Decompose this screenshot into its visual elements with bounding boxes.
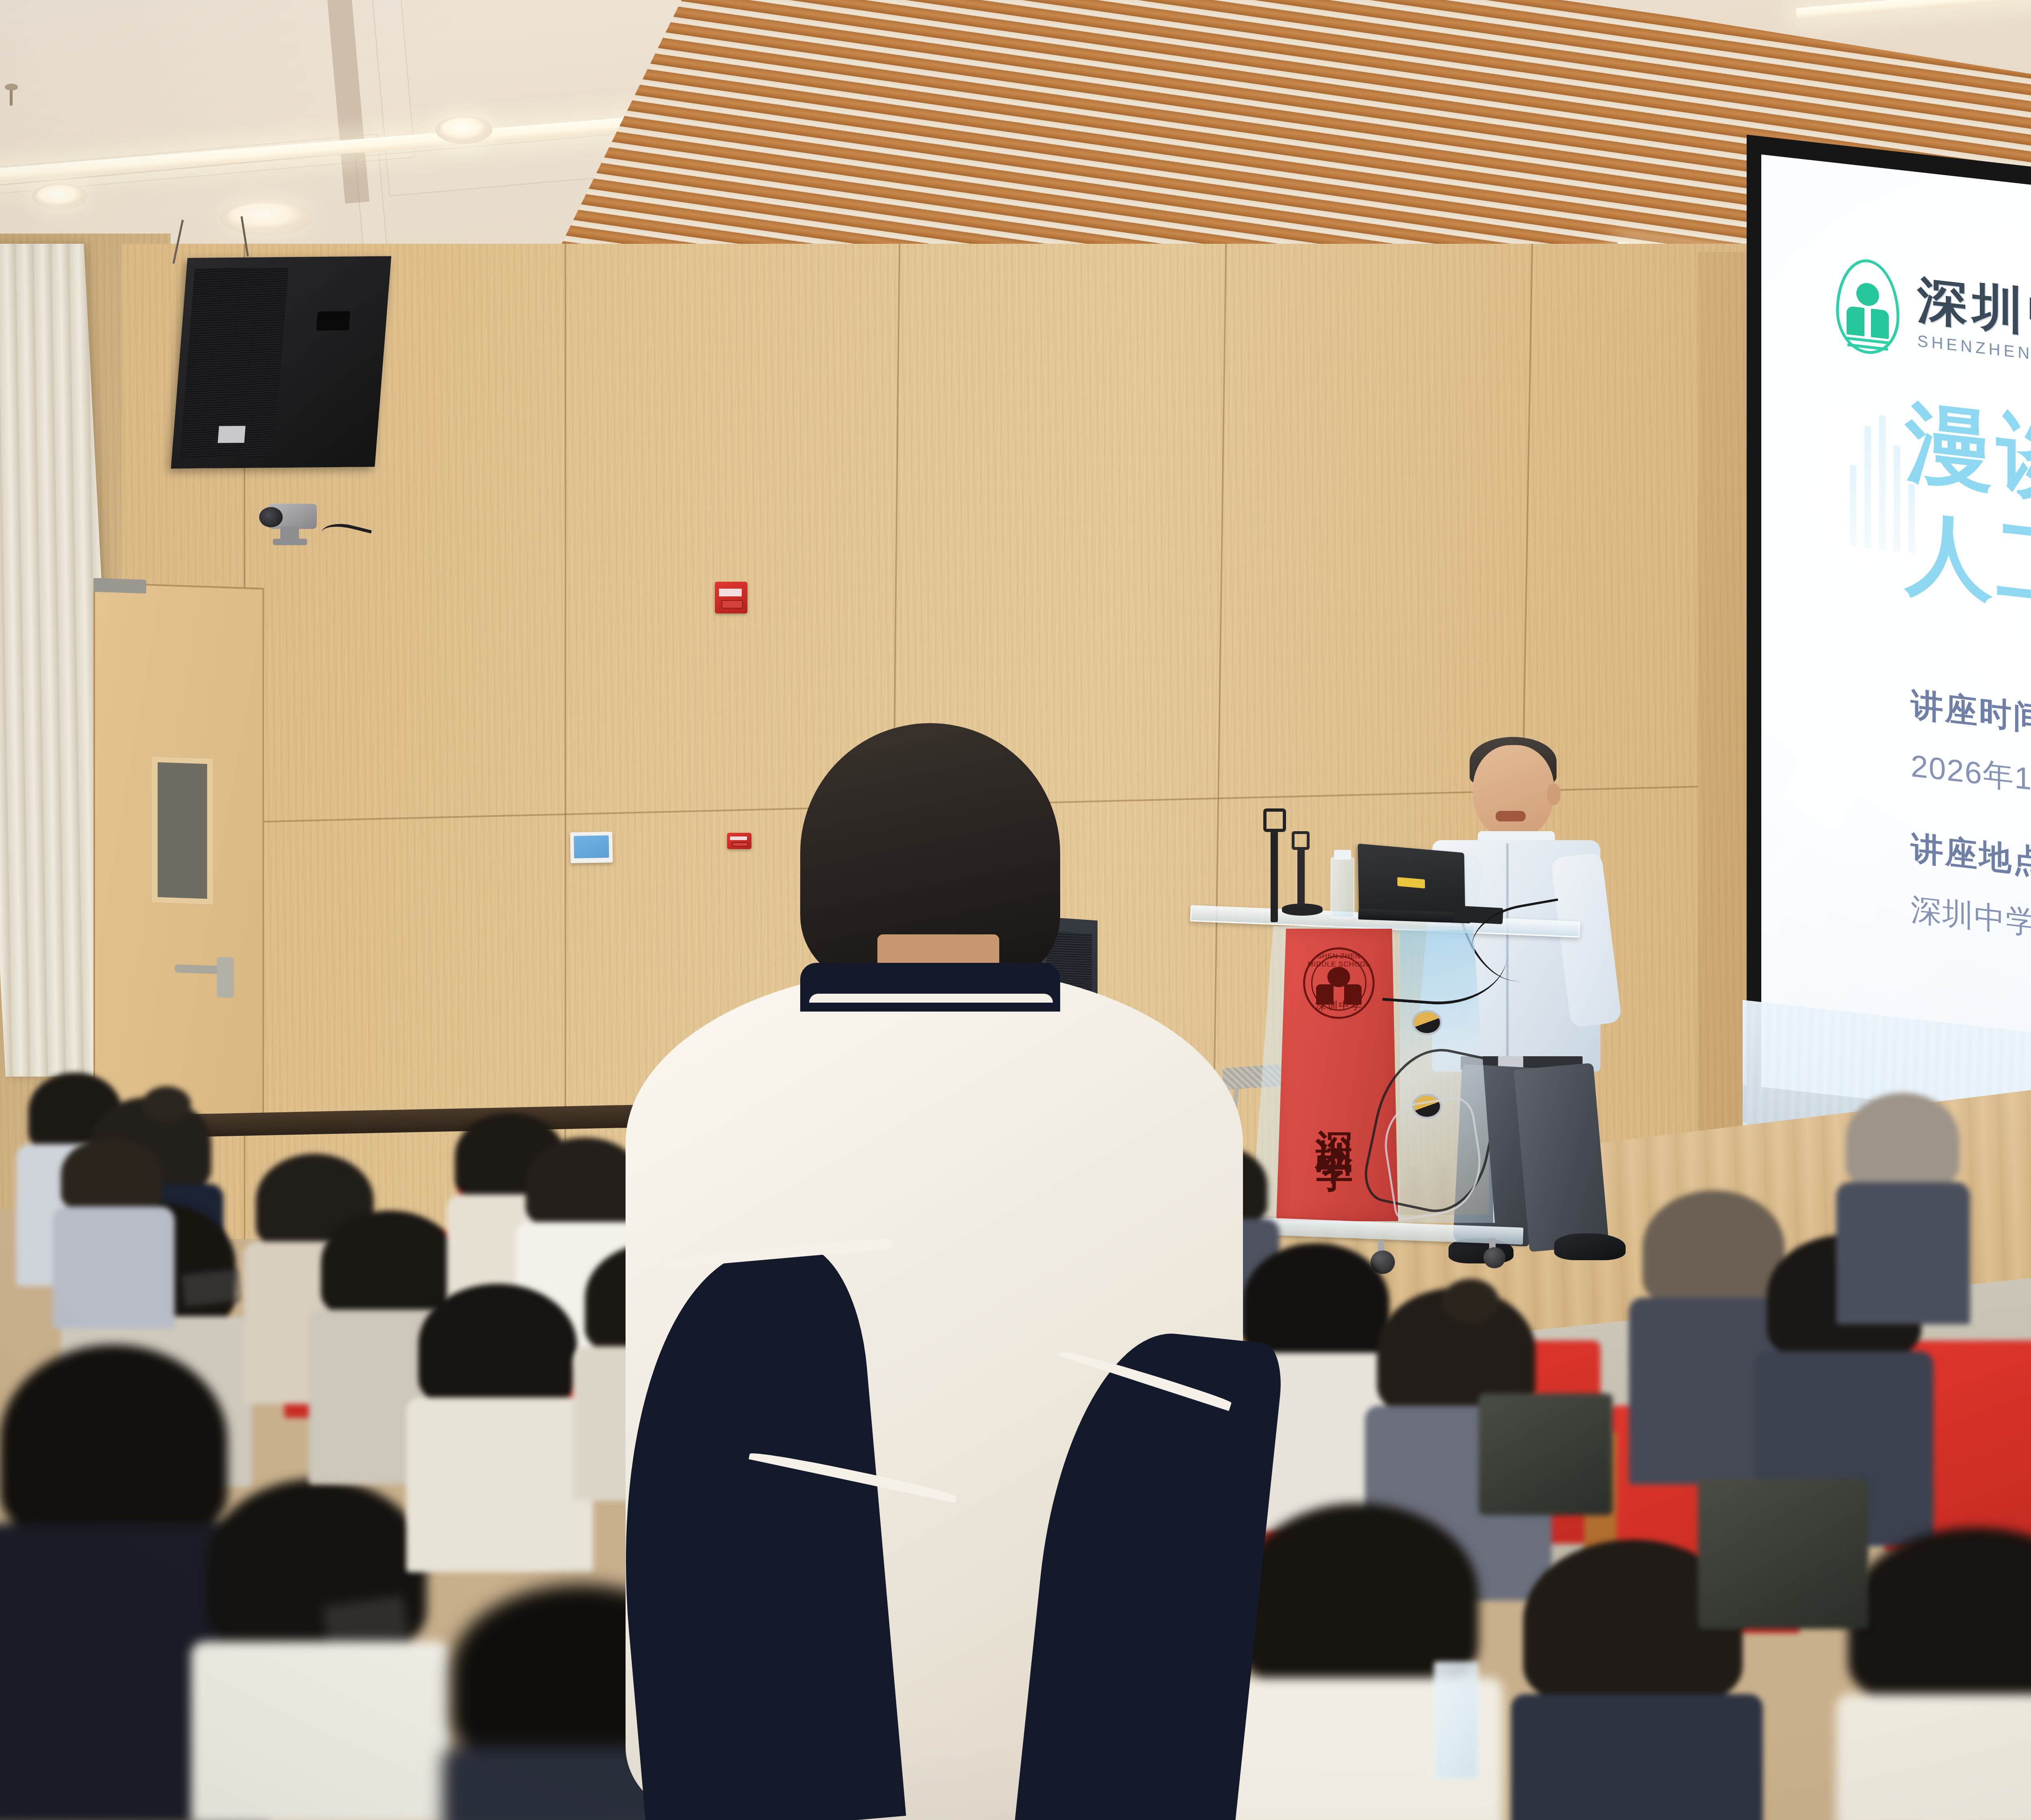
laptop-sticker	[1397, 877, 1425, 888]
ceiling-downlight	[37, 185, 83, 206]
jbl-wall-speaker	[171, 256, 392, 469]
backpack	[1698, 1479, 1869, 1629]
water-bottle[interactable]	[1434, 1662, 1479, 1779]
fire-sprinkler-head	[10, 88, 13, 106]
slide-title-line-2: 人工智能	[1905, 496, 2031, 693]
ceiling-downlight	[440, 118, 487, 141]
student-tracksuit-jacket	[626, 967, 1243, 1820]
ceiling-diffuser	[227, 203, 305, 230]
audience-person	[53, 1137, 175, 1324]
podium-caster	[1483, 1247, 1505, 1268]
presenter-head	[1473, 745, 1554, 839]
microphone-base	[1282, 903, 1323, 916]
eyeglasses	[181, 1269, 241, 1307]
presenter-ear	[1547, 783, 1561, 805]
microphone-stand	[1297, 847, 1305, 905]
school-crest-icon	[1836, 256, 1899, 357]
floor-microphone-clip	[1263, 808, 1286, 832]
standing-student-foreground	[626, 723, 1243, 1820]
wall-control-panel[interactable]	[570, 832, 613, 863]
microphone-head	[1292, 831, 1310, 850]
laptop-screen	[1358, 843, 1466, 920]
wall-camera	[252, 500, 329, 557]
door-vision-panel	[152, 756, 213, 905]
podium-vertical-text: 深圳中学	[1314, 1031, 1355, 1202]
lecture-hall-photo: 深圳中學 SHENZHEN MIDDLE SCHOOL 漫谈统计学与 人工智能 …	[0, 0, 2031, 1820]
podium: SHEN ZHEN MIDDLE SCHOOL 深圳中学 深圳中学	[1243, 882, 1527, 1272]
presenter-shoe-right	[1554, 1233, 1626, 1260]
presenter-mouth	[1496, 811, 1526, 821]
water-bottle[interactable]	[1331, 857, 1354, 918]
seal-text-en: SHEN ZHEN MIDDLE SCHOOL	[1305, 952, 1373, 968]
podium-grommet	[1412, 1010, 1442, 1035]
school-name-en: SHENZHEN MIDDLE SCHOOL	[1917, 331, 2031, 383]
fire-alarm-pull-station[interactable]	[715, 582, 747, 613]
bottle-cap	[1334, 850, 1351, 860]
fire-sprinkler-cap	[5, 84, 18, 90]
linear-led-strip	[1796, 0, 2031, 19]
door-closer	[93, 578, 146, 594]
presenter-trouser-right	[1514, 1063, 1609, 1252]
audience-person	[406, 1284, 593, 1568]
floor-microphone-stand	[1271, 829, 1278, 922]
audience-person	[1836, 1093, 1970, 1320]
slide-logo: 深圳中學 SHENZHEN MIDDLE SCHOOL	[1836, 256, 2031, 393]
door-lock-plate	[217, 957, 234, 998]
backpack	[1479, 1393, 1613, 1515]
lecture-location-value: 深圳中学新校区B203	[1911, 889, 2031, 1014]
school-seal-icon: SHEN ZHEN MIDDLE SCHOOL 深圳中学	[1303, 947, 1375, 1019]
control-panel-screen[interactable]	[574, 835, 609, 858]
seal-text-cn: 深圳中学	[1305, 999, 1373, 1013]
slide-title: 漫谈统计学与 人工智能	[1905, 386, 2031, 693]
acoustic-door[interactable]	[93, 582, 264, 1124]
